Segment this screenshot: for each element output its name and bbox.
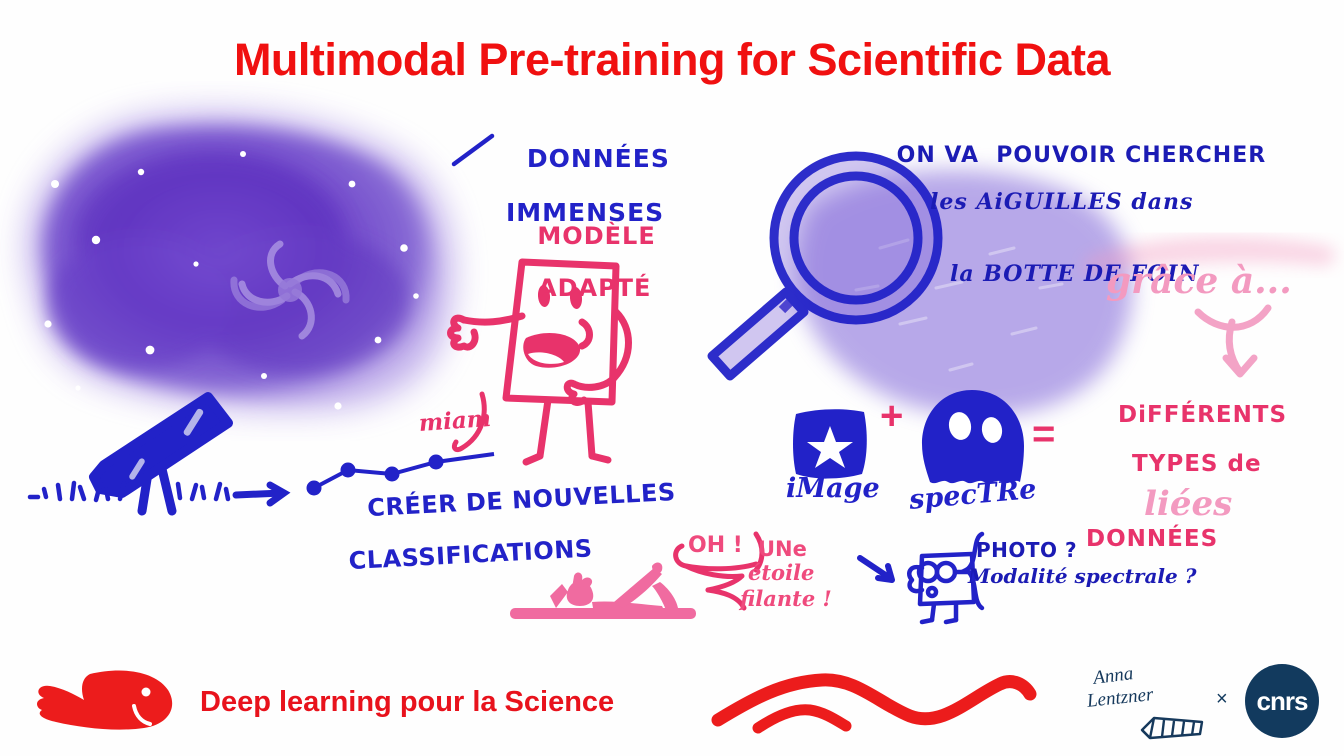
cnrs-logo: cnrs bbox=[1245, 664, 1319, 738]
whale-icon bbox=[28, 666, 178, 736]
page-title: Multimodal Pre-training for Scientific D… bbox=[0, 34, 1344, 86]
footer-tagline: Deep learning pour la Science bbox=[200, 686, 614, 719]
annotation-line: DONNÉES bbox=[527, 144, 670, 173]
telescope-icon bbox=[94, 397, 228, 511]
annotation-line: DiFFÉRENTS bbox=[1118, 402, 1287, 428]
annotation-modalite-spectrale: Modalité spectrale ? bbox=[968, 566, 1196, 588]
annotation-photo: PHOTO ? bbox=[976, 540, 1077, 562]
annotation-une: UNe bbox=[758, 538, 807, 561]
red-wave-icon bbox=[714, 674, 1034, 734]
annotation-line: TYPES de bbox=[1132, 452, 1287, 477]
annotation-liees: liées bbox=[1144, 486, 1232, 523]
annotation-line: CRÉER DE NOUVELLES bbox=[367, 478, 677, 522]
annotation-filante: filante ! bbox=[740, 588, 832, 611]
label-image: iMage bbox=[786, 474, 880, 503]
annotation-grace-a: grâce à... bbox=[1106, 262, 1292, 301]
pencil-icon bbox=[1128, 712, 1208, 742]
annotation-line: les AiGUILLES dans bbox=[930, 191, 1266, 215]
annotation-line: DONNÉES bbox=[1086, 527, 1287, 552]
annotation-line: ADAPTÉ bbox=[538, 276, 656, 302]
image-modality-icon bbox=[790, 404, 870, 484]
equals-sign: = bbox=[1032, 412, 1055, 457]
telescope-scene bbox=[30, 385, 300, 515]
annotation-oh: OH ! bbox=[688, 534, 743, 558]
credit-separator: × bbox=[1216, 688, 1228, 711]
annotation-line: ON VA POUVOIR CHERCHER bbox=[897, 143, 1267, 168]
annotation-creer-classifications: CRÉER DE NOUVELLES CLASSIFICATIONS bbox=[330, 454, 682, 627]
plus-sign: + bbox=[880, 394, 903, 439]
arrow-icon bbox=[236, 485, 284, 503]
annotation-line: MODÈLE bbox=[537, 222, 655, 250]
annotation-modele-adapte: MODÈLE ADAPTÉ bbox=[500, 198, 656, 353]
sketchnote-canvas: Multimodal Pre-training for Scientific D… bbox=[0, 0, 1344, 756]
annotation-line: CLASSIFICATIONS bbox=[348, 532, 679, 575]
annotation-miam: miam bbox=[418, 407, 492, 437]
annotation-etoile: étoile bbox=[748, 562, 814, 585]
